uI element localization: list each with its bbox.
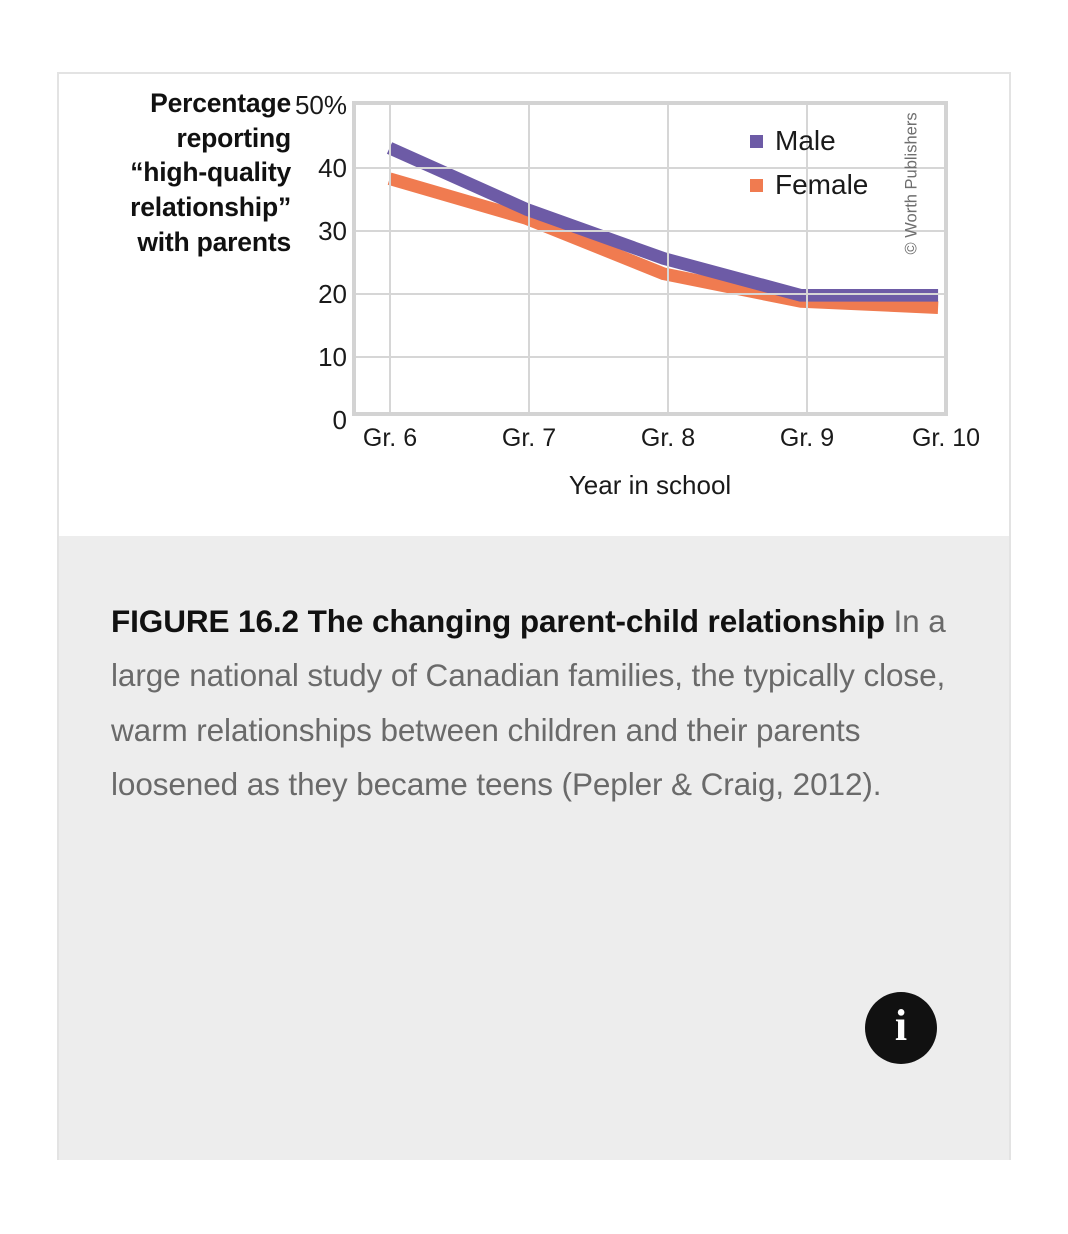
legend-swatch-female-icon <box>750 179 763 192</box>
y-tick-label: 0 <box>267 407 347 433</box>
y-axis-title-line-1: Percentage <box>69 86 291 121</box>
caption-region: FIGURE 16.2 The changing parent-child re… <box>59 536 1009 1160</box>
y-tick-label: 20 <box>267 281 347 307</box>
x-axis-ticks: Gr. 6Gr. 7Gr. 8Gr. 9Gr. 10 <box>352 424 948 458</box>
y-axis-ticks: 50%403020100 <box>267 74 347 536</box>
info-icon: i <box>895 1004 907 1048</box>
y-axis-title-line-2: reporting <box>69 121 291 156</box>
y-axis-title: Percentage reporting “high-quality relat… <box>69 86 291 260</box>
x-axis-title: Year in school <box>352 470 948 501</box>
copyright-holder: © Worth Publishers <box>949 88 1009 388</box>
gridline-horizontal <box>356 293 944 295</box>
gridline-vertical <box>389 105 391 412</box>
x-tick-label: Gr. 9 <box>780 424 834 453</box>
legend-item-female: Female <box>750 171 868 199</box>
y-tick-label: 30 <box>267 218 347 244</box>
y-tick-label: 40 <box>267 155 347 181</box>
y-tick-label: 10 <box>267 344 347 370</box>
legend-label-male: Male <box>775 127 836 155</box>
gridline-vertical <box>667 105 669 412</box>
gridline-horizontal <box>356 230 944 232</box>
copyright-notice: © Worth Publishers <box>903 0 922 255</box>
y-axis-title-line-3: “high-quality <box>69 155 291 190</box>
x-tick-label: Gr. 8 <box>641 424 695 453</box>
y-axis-title-line-4: relationship” <box>69 190 291 225</box>
y-axis-title-line-5: with parents <box>69 225 291 260</box>
figure-card: Percentage reporting “high-quality relat… <box>57 72 1011 1160</box>
info-button[interactable]: i <box>865 992 937 1064</box>
y-tick-label: 50% <box>267 92 347 118</box>
plot-area: Male Female <box>352 101 948 416</box>
gridline-horizontal <box>356 356 944 358</box>
legend-swatch-male-icon <box>750 135 763 148</box>
legend-item-male: Male <box>750 127 868 155</box>
x-tick-label: Gr. 6 <box>363 424 417 453</box>
figure-caption: FIGURE 16.2 The changing parent-child re… <box>111 594 955 812</box>
chart-legend: Male Female <box>750 127 868 215</box>
legend-label-female: Female <box>775 171 868 199</box>
x-tick-label: Gr. 7 <box>502 424 556 453</box>
x-tick-label: Gr. 10 <box>912 424 980 453</box>
figure-caption-title: FIGURE 16.2 The changing parent-child re… <box>111 603 885 639</box>
gridline-vertical <box>528 105 530 412</box>
chart-region: Percentage reporting “high-quality relat… <box>59 74 1009 536</box>
